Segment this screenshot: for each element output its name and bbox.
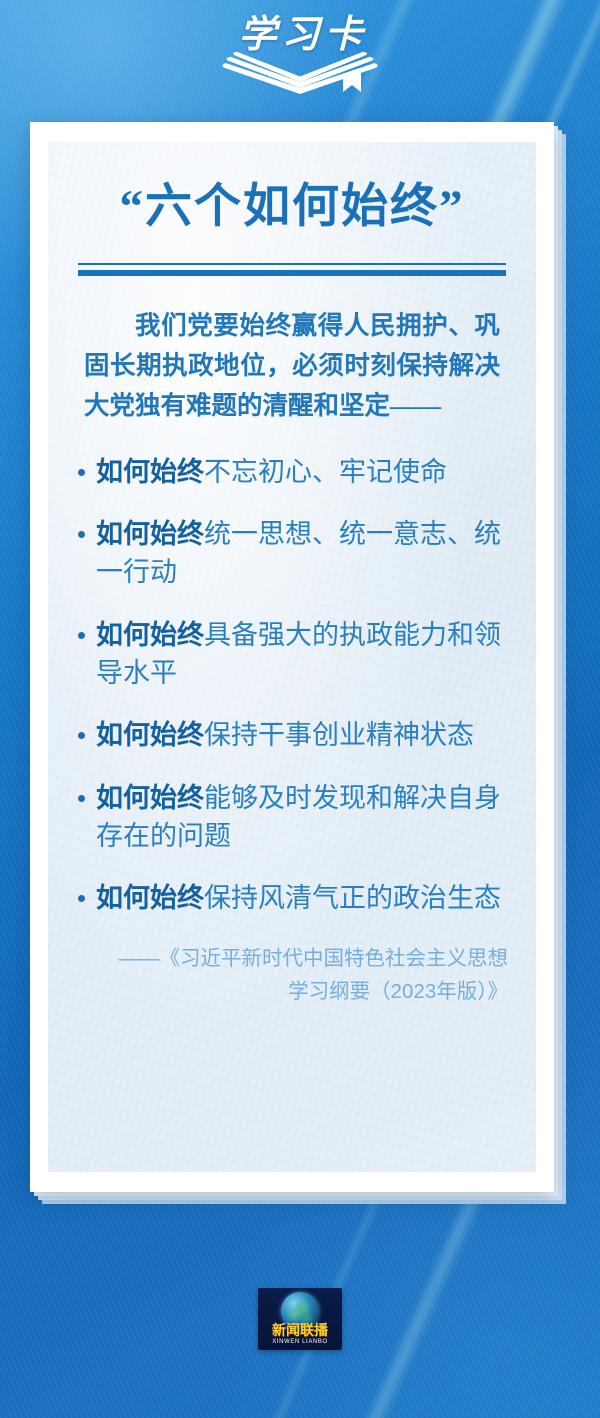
title-divider — [78, 263, 506, 276]
card-paper-panel: “六个如何始终” 我们党要始终赢得人民拥护、巩固长期执政地位，必须时刻保持解决大… — [48, 142, 536, 1172]
card-stack: “六个如何始终” 我们党要始终赢得人民拥护、巩固长期执政地位，必须时刻保持解决大… — [30, 122, 566, 1204]
list-item: 如何始终统一思想、统一意志、统一行动 — [74, 515, 510, 592]
poster-root: 学习卡 “六个如何始终” — [0, 0, 600, 1418]
list-item: 如何始终保持风清气正的政治生态 — [74, 879, 510, 917]
list-item-lead: 如何始终 — [96, 720, 204, 750]
source-line-1: ——《习近平新时代中国特色社会主义思想 — [84, 942, 508, 975]
list-item-lead: 如何始终 — [96, 783, 204, 813]
list-item-lead: 如何始终 — [96, 457, 204, 487]
source-line-2: 学习纲要（2023年版）》 — [84, 975, 508, 1008]
list-item: 如何始终具备强大的执政能力和领导水平 — [74, 616, 510, 693]
source-attribution: ——《习近平新时代中国特色社会主义思想 学习纲要（2023年版）》 — [84, 942, 508, 1008]
page-title: “六个如何始终” — [48, 178, 536, 237]
channel-name-en: XINWEN LIANBO — [272, 1339, 327, 1345]
list-item-lead: 如何始终 — [96, 620, 204, 650]
bullet-list: 如何始终不忘初心、牢记使命如何始终统一思想、统一意志、统一行动如何始终具备强大的… — [74, 453, 510, 918]
list-item-text: 不忘初心、牢记使命 — [204, 457, 447, 487]
list-item-text: 保持风清气正的政治生态 — [204, 883, 501, 913]
brand-title: 学习卡 — [232, 16, 367, 54]
list-item-text: 保持干事创业精神状态 — [204, 720, 474, 750]
list-item-lead: 如何始终 — [96, 519, 204, 549]
intro-paragraph: 我们党要始终赢得人民拥护、巩固长期执政地位，必须时刻保持解决大党独有难题的清醒和… — [84, 306, 500, 427]
channel-name-cn: 新闻联播 — [272, 1323, 328, 1337]
divider-line-thick — [78, 270, 506, 276]
list-item: 如何始终能够及时发现和解决自身存在的问题 — [74, 779, 510, 856]
open-book-icon — [215, 48, 385, 100]
list-item: 如何始终保持干事创业精神状态 — [74, 716, 510, 754]
list-item-lead: 如何始终 — [96, 883, 204, 913]
header-brand: 学习卡 — [0, 16, 600, 120]
channel-logo: 新闻联播 XINWEN LIANBO — [258, 1288, 342, 1350]
list-item: 如何始终不忘初心、牢记使命 — [74, 453, 510, 491]
divider-line-thin — [78, 263, 506, 265]
content-card: “六个如何始终” 我们党要始终赢得人民拥护、巩固长期执政地位，必须时刻保持解决大… — [30, 122, 554, 1192]
